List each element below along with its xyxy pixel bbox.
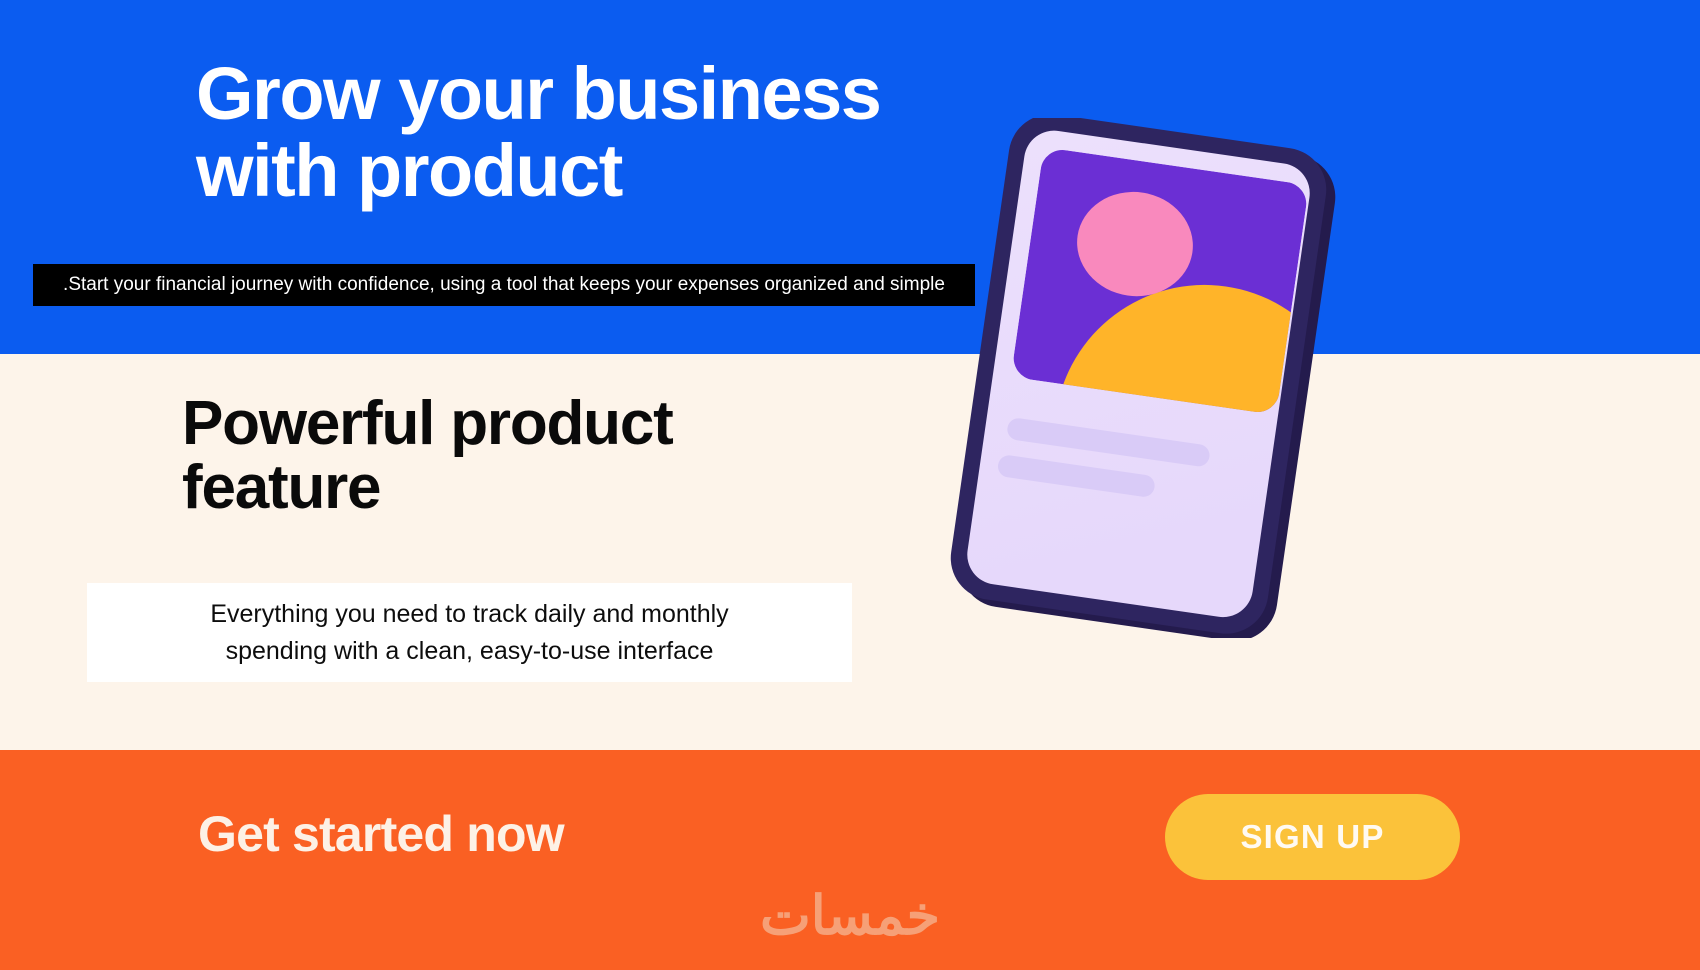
feature-paragraph-text: Everything you need to track daily and m…: [210, 596, 728, 669]
landing-page: Grow your business with product .Start y…: [0, 0, 1700, 970]
feature-heading: Powerful product feature: [182, 392, 942, 521]
hero-subtitle-highlight-box: .Start your financial journey with confi…: [33, 264, 975, 306]
sign-up-button[interactable]: SIGN UP: [1165, 794, 1460, 880]
feature-paragraph-box: Everything you need to track daily and m…: [87, 583, 852, 682]
site-watermark: خمسات: [0, 884, 1700, 947]
cta-heading: Get started now: [198, 805, 564, 863]
hero-subtitle-text: .Start your financial journey with confi…: [33, 264, 975, 306]
hero-heading: Grow your business with product: [196, 56, 1096, 210]
